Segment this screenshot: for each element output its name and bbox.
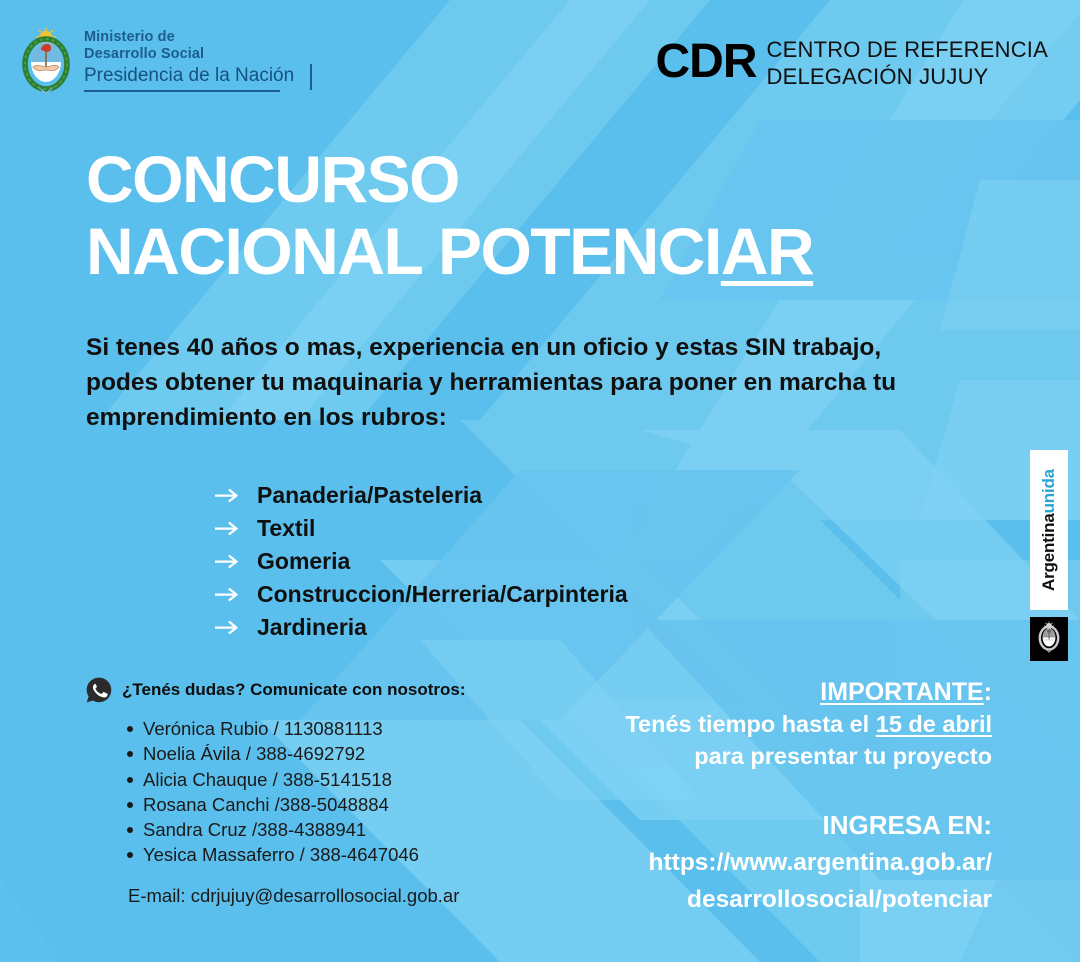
contact-block: ¿Tenés dudas? Comunicate con nosotros: V… xyxy=(85,676,555,908)
cdr-line-2: DELEGACIÓN JUJUY xyxy=(767,63,1048,90)
ingresa-heading: INGRESA EN: xyxy=(562,806,992,844)
list-item: Sandra Cruz /388-4388941 xyxy=(143,817,555,842)
rubro-label: Gomeria xyxy=(257,548,350,574)
badge-word-argentina: Argentina xyxy=(1039,513,1058,591)
ministry-line-2: Desarrollo Social xyxy=(84,46,312,63)
ministry-wordmark: Ministerio de Desarrollo Social Presiden… xyxy=(84,26,312,88)
contact-heading: ¿Tenés dudas? Comunicate con nosotros: xyxy=(122,680,466,700)
whatsapp-icon[interactable] xyxy=(85,676,113,704)
arrow-right-icon xyxy=(215,620,241,634)
coat-of-arms-svg xyxy=(18,26,74,96)
argentina-unida-badge: Argentinaunida xyxy=(1030,450,1068,661)
list-item: Rosana Canchi /388-5048884 xyxy=(143,792,555,817)
intro-line-2: podes obtener tu maquinaria y herramient… xyxy=(86,365,996,400)
list-item: Noelia Ávila / 388-4692792 xyxy=(143,741,555,766)
important-title: IMPORTANTE: xyxy=(562,676,992,708)
deadline-prefix: Tenés tiempo hasta el xyxy=(625,711,875,737)
argentina-coat-of-arms-mono-icon xyxy=(1036,621,1062,658)
badge-word-unida: unida xyxy=(1039,469,1058,513)
badge-arms-panel xyxy=(1030,617,1068,661)
contact-heading-row: ¿Tenés dudas? Comunicate con nosotros: xyxy=(85,676,555,704)
contact-list: Verónica Rubio / 1130881113 Noelia Ávila… xyxy=(85,716,555,868)
badge-panel: Argentinaunida xyxy=(1030,450,1068,610)
arrow-right-icon xyxy=(215,521,241,535)
rubro-label: Textil xyxy=(257,515,315,541)
ingresa-url-line-1[interactable]: https://www.argentina.gob.ar/ xyxy=(562,844,992,881)
deadline-subline: para presentar tu proyecto xyxy=(562,740,992,772)
list-item: Yesica Massaferro / 388-4647046 xyxy=(143,842,555,867)
cdr-subtitle: CENTRO DE REFERENCIA DELEGACIÓN JUJUY xyxy=(767,34,1048,90)
rubros-list: Panaderia/Pasteleria Textil Gomeria Cons… xyxy=(215,478,628,643)
rubro-label: Panaderia/Pasteleria xyxy=(257,482,482,508)
intro-line-3: emprendimiento en los rubros: xyxy=(86,400,996,435)
deadline-line: Tenés tiempo hasta el 15 de abril xyxy=(562,708,992,740)
argentina-coat-of-arms-icon xyxy=(18,26,74,96)
important-notice: IMPORTANTE: Tenés tiempo hasta el 15 de … xyxy=(562,676,992,772)
title-line-2: NACIONAL POTENCIAR xyxy=(86,215,813,287)
ministry-divider-bar xyxy=(310,64,312,90)
page-title: CONCURSO NACIONAL POTENCIAR xyxy=(86,143,813,287)
ministry-underline xyxy=(84,90,280,92)
list-item: Jardineria xyxy=(215,610,628,643)
cdr-line-1: CENTRO DE REFERENCIA xyxy=(767,36,1048,63)
poster-canvas: Ministerio de Desarrollo Social Presiden… xyxy=(0,0,1080,962)
cdr-mark: CDR xyxy=(656,38,757,86)
list-item: Panaderia/Pasteleria xyxy=(215,478,628,511)
ingresa-block: INGRESA EN: https://www.argentina.gob.ar… xyxy=(562,806,992,918)
intro-paragraph: Si tenes 40 años o mas, experiencia en u… xyxy=(86,330,996,435)
list-item: Textil xyxy=(215,511,628,544)
arrow-right-icon xyxy=(215,488,241,502)
rubro-label: Jardineria xyxy=(257,614,367,640)
ministry-logo: Ministerio de Desarrollo Social Presiden… xyxy=(18,26,312,96)
title-line-1: CONCURSO xyxy=(86,143,813,215)
ingresa-url-line-2[interactable]: desarrollosocial/potenciar xyxy=(562,881,992,918)
list-item: Gomeria xyxy=(215,544,628,577)
important-colon: : xyxy=(984,678,992,706)
title-line-2-underlined: AR xyxy=(721,214,813,288)
list-item: Alicia Chauque / 388-5141518 xyxy=(143,767,555,792)
arrow-right-icon xyxy=(215,587,241,601)
intro-line-1: Si tenes 40 años o mas, experiencia en u… xyxy=(86,330,996,365)
important-word: IMPORTANTE xyxy=(820,678,983,706)
ministry-line-3: Presidencia de la Nación xyxy=(84,63,312,88)
contact-email: E-mail: cdrjujuy@desarrollosocial.gob.ar xyxy=(85,884,555,908)
arrow-right-icon xyxy=(215,554,241,568)
badge-wordmark: Argentinaunida xyxy=(1040,469,1058,591)
list-item: Verónica Rubio / 1130881113 xyxy=(143,716,555,741)
cdr-logo: CDR CENTRO DE REFERENCIA DELEGACIÓN JUJU… xyxy=(656,34,1048,90)
deadline-date: 15 de abril xyxy=(876,711,992,737)
ministry-line-1: Ministerio de xyxy=(84,29,312,46)
poster-header: Ministerio de Desarrollo Social Presiden… xyxy=(0,0,1080,120)
list-item: Construccion/Herreria/Carpinteria xyxy=(215,577,628,610)
title-line-2-plain: NACIONAL POTENCI xyxy=(86,214,721,288)
rubro-label: Construccion/Herreria/Carpinteria xyxy=(257,581,628,607)
